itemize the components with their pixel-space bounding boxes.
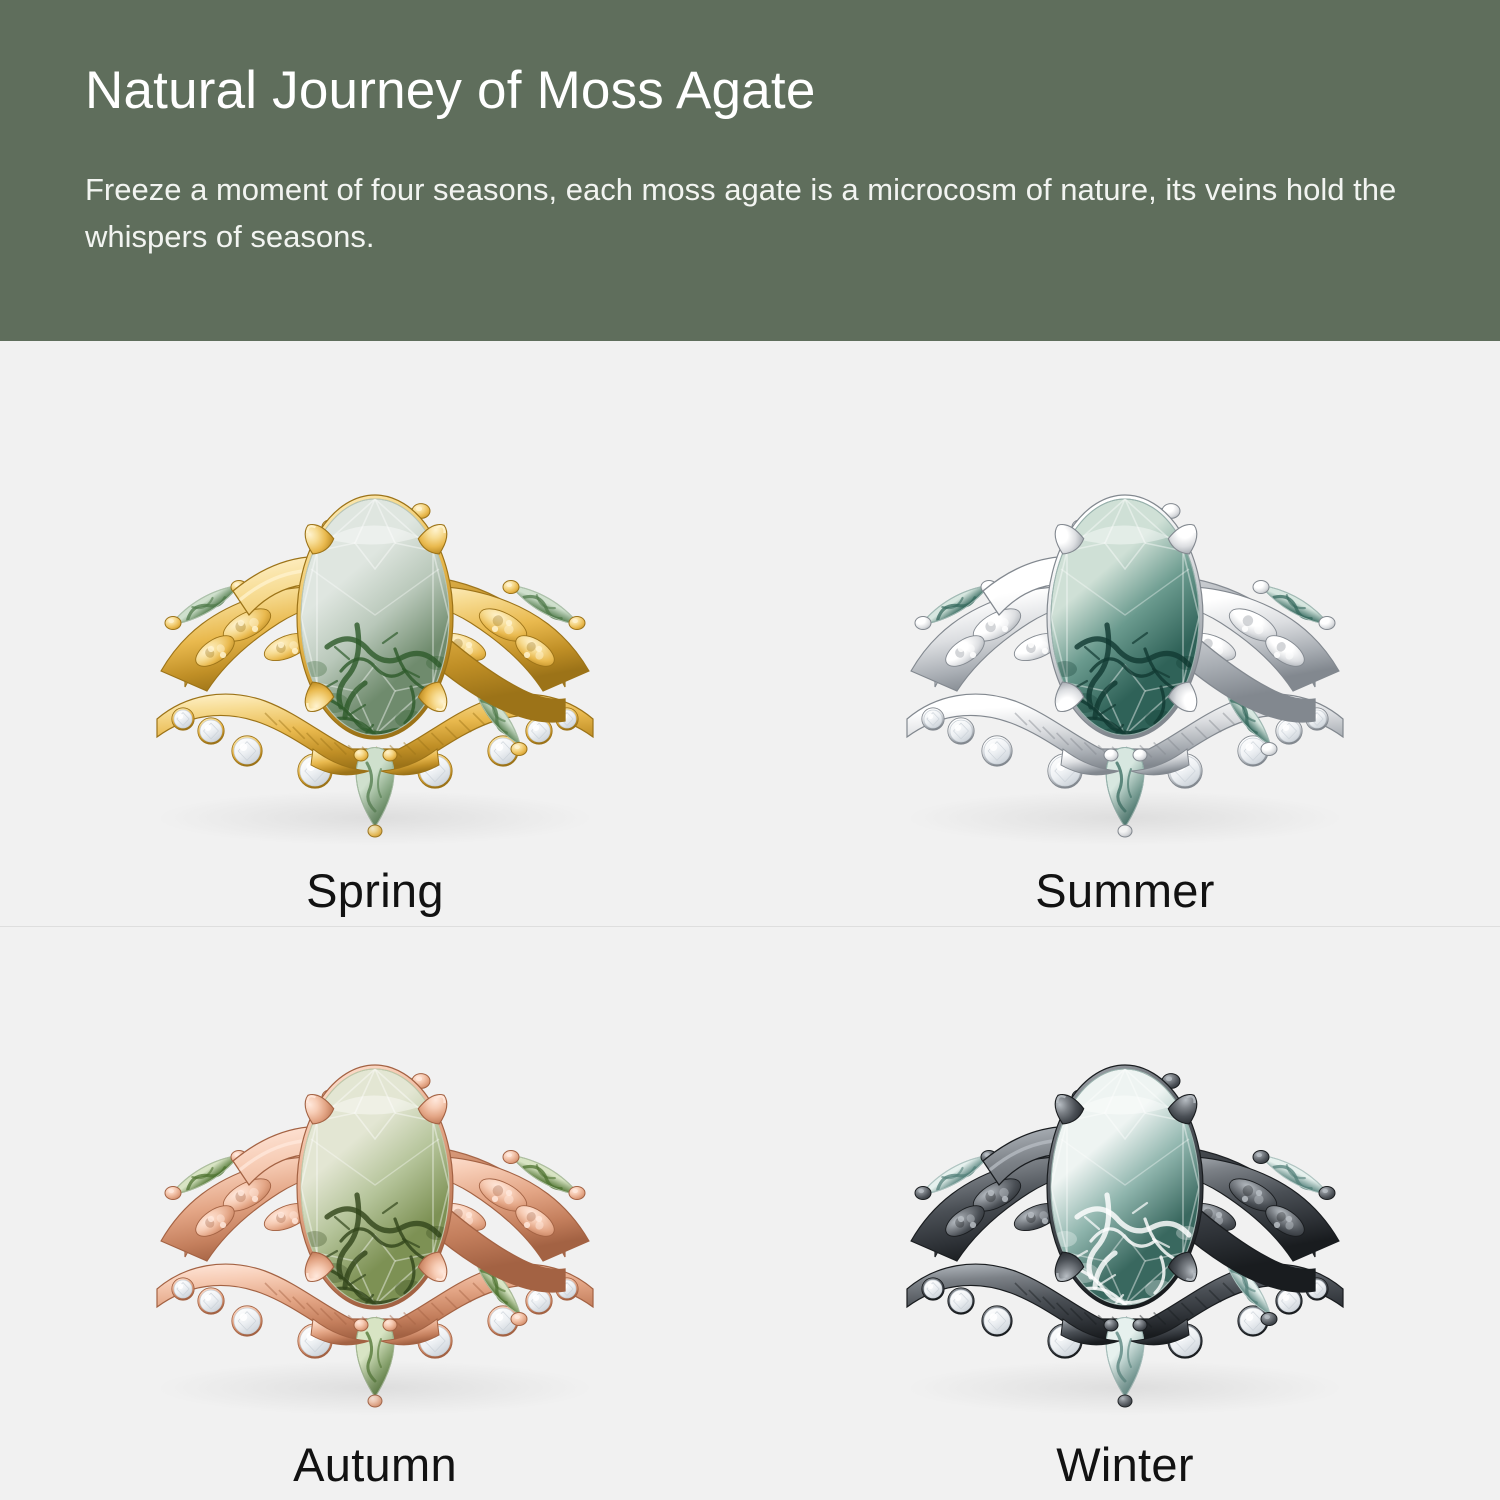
ring-illustration-autumn — [65, 989, 685, 1419]
prong — [503, 580, 519, 593]
ring-image-autumn[interactable] — [65, 989, 685, 1419]
header-banner: Natural Journey of Moss Agate Freeze a m… — [0, 0, 1500, 341]
prong — [511, 1312, 527, 1325]
prong — [915, 616, 931, 629]
prong — [1261, 1312, 1277, 1325]
infographic-page: Natural Journey of Moss Agate Freeze a m… — [0, 0, 1500, 1500]
diamond — [232, 736, 262, 766]
prong — [165, 616, 181, 629]
product-cell-autumn[interactable]: Autumn — [0, 927, 750, 1500]
prong — [1319, 1186, 1335, 1199]
diamond — [172, 708, 194, 730]
ring-illustration-winter — [815, 989, 1435, 1419]
diamond — [982, 736, 1012, 766]
prong — [915, 1186, 931, 1199]
diamond — [922, 708, 944, 730]
page-subtitle: Freeze a moment of four seasons, each mo… — [85, 166, 1415, 260]
prong — [569, 1186, 585, 1199]
season-label-summer: Summer — [1035, 867, 1214, 914]
diamond — [922, 1278, 944, 1300]
prong — [1253, 580, 1269, 593]
prong — [1319, 616, 1335, 629]
ring-image-winter[interactable] — [815, 989, 1435, 1419]
diamond — [948, 718, 974, 744]
diamond — [198, 1288, 224, 1314]
diamond — [982, 1306, 1012, 1336]
season-label-winter: Winter — [1056, 1441, 1194, 1488]
diamond — [172, 1278, 194, 1300]
ring-image-spring[interactable] — [65, 419, 685, 849]
season-label-autumn: Autumn — [293, 1441, 457, 1488]
prong — [503, 1150, 519, 1163]
ring-illustration-summer — [815, 419, 1435, 849]
prong — [569, 616, 585, 629]
prong — [165, 1186, 181, 1199]
prong — [1261, 742, 1277, 755]
prong — [1253, 1150, 1269, 1163]
product-cell-spring[interactable]: Spring — [0, 341, 750, 927]
product-cell-summer[interactable]: Summer — [750, 341, 1500, 927]
diamond — [232, 1306, 262, 1336]
ring-image-summer[interactable] — [815, 419, 1435, 849]
diamond — [198, 718, 224, 744]
diamond — [948, 1288, 974, 1314]
ring-illustration-spring — [65, 419, 685, 849]
season-grid: Spring Summer Autumn Winter — [0, 341, 1500, 1500]
prong — [511, 742, 527, 755]
page-title: Natural Journey of Moss Agate — [85, 62, 1415, 120]
season-label-spring: Spring — [306, 867, 444, 914]
product-cell-winter[interactable]: Winter — [750, 927, 1500, 1500]
